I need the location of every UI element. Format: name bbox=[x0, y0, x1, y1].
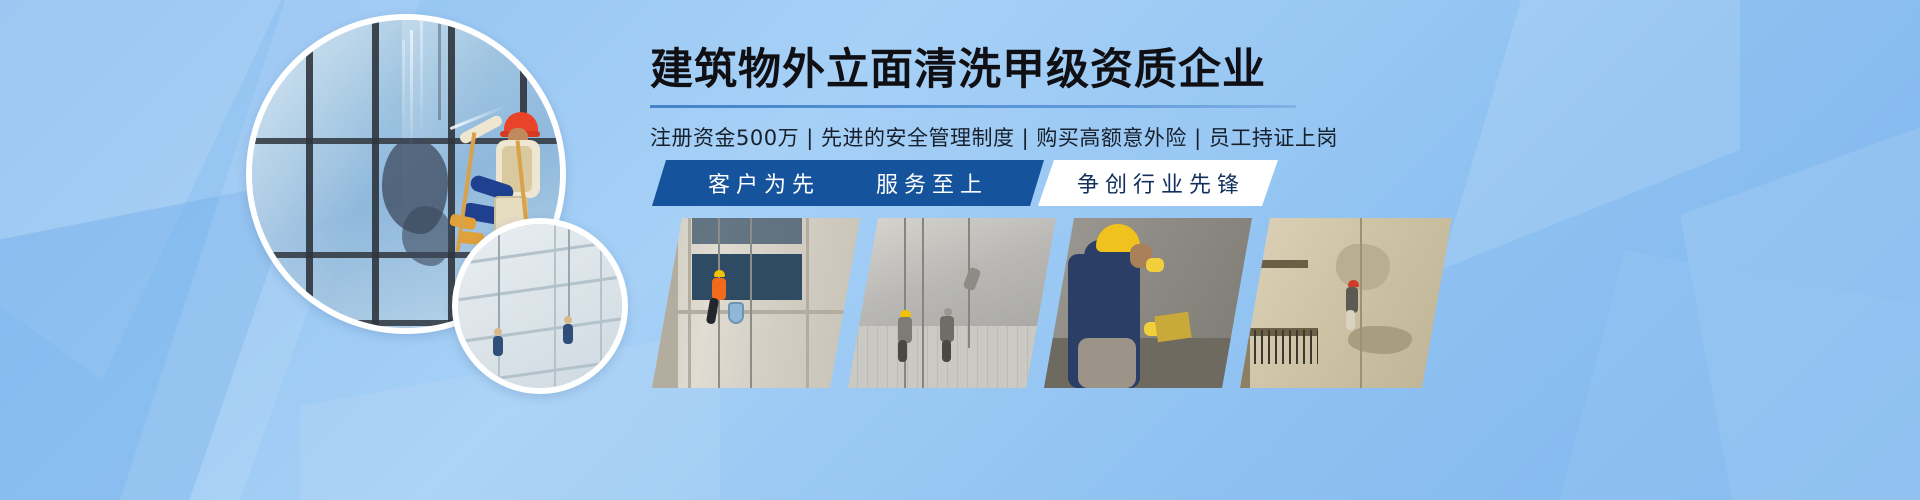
collage-panel-4 bbox=[1240, 218, 1452, 388]
promo-banner: 建筑物外立面清洗甲级资质企业 注册资金500万 | 先进的安全管理制度 | 购买… bbox=[0, 0, 1920, 500]
plasterer-closeup-scene bbox=[1044, 218, 1252, 388]
worker-orange-vest-scene bbox=[652, 218, 860, 388]
ribbon-blue-label: 客户为先 服务至上 bbox=[708, 167, 988, 199]
photo-circle-small bbox=[452, 218, 628, 394]
page-title: 建筑物外立面清洗甲级资质企业 bbox=[650, 46, 1310, 95]
slogan-ribbon: 客户为先 服务至上 争创行业先锋 bbox=[652, 160, 1272, 206]
light-facade-scene bbox=[458, 224, 622, 388]
worker-beside-balcony-scene bbox=[1240, 218, 1452, 388]
two-rappelling-workers-scene bbox=[848, 218, 1056, 388]
ribbon-white-label: 争创行业先锋 bbox=[1071, 167, 1245, 199]
subtitle: 注册资金500万 | 先进的安全管理制度 | 购买高额意外险 | 员工持证上岗 bbox=[650, 122, 1310, 152]
collage-panel-1 bbox=[652, 218, 860, 388]
title-divider bbox=[650, 105, 1296, 108]
ribbon-segment-white: 争创行业先锋 bbox=[1038, 160, 1278, 206]
ribbon-segment-blue: 客户为先 服务至上 bbox=[652, 160, 1044, 206]
collage-panel-2 bbox=[848, 218, 1056, 388]
photo-collage bbox=[652, 218, 1472, 388]
collage-panel-3 bbox=[1044, 218, 1252, 388]
headline-block: 建筑物外立面清洗甲级资质企业 注册资金500万 | 先进的安全管理制度 | 购买… bbox=[650, 46, 1310, 152]
